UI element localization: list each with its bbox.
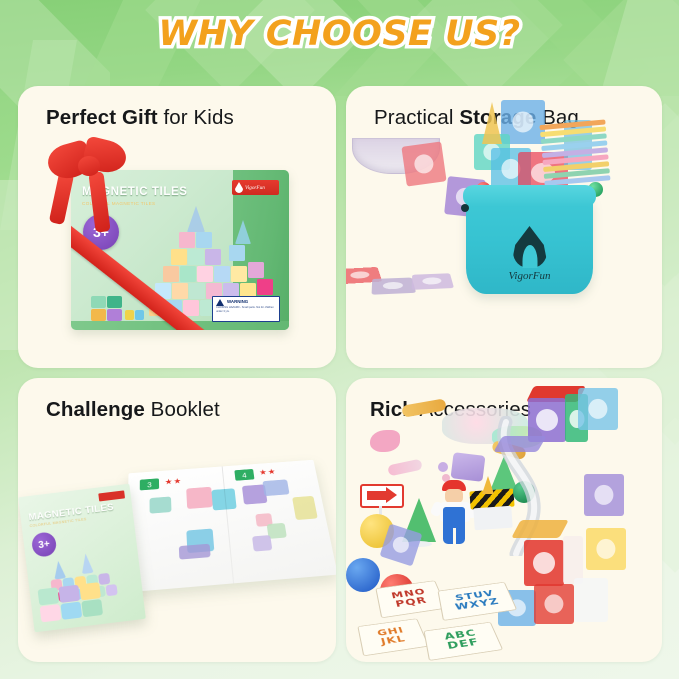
magnetic-square-tile: [372, 277, 417, 294]
magnetic-square-tile: [412, 273, 454, 290]
booklet-brand-logo: [98, 490, 125, 501]
bread-sticker: [401, 398, 446, 417]
feature-card-storage-bag: Practical Storage Bag: [346, 86, 662, 368]
tile-hole: [391, 535, 412, 556]
bag-rim: [463, 185, 596, 207]
alphabet-card: MNO PQR: [375, 580, 447, 618]
cover-tile: [40, 604, 62, 622]
feature-card-grid: Perfect Gift for Kids: [18, 86, 662, 662]
bow-knot: [78, 156, 100, 176]
magnetic-flat-tile: [493, 436, 546, 452]
alphabet-line: JKL: [380, 634, 407, 646]
magnetic-square-tile: [586, 528, 626, 570]
tile-hole: [544, 594, 563, 613]
page-title: WHY CHOOSE US?: [158, 14, 520, 54]
booklet-model-tile: [252, 535, 272, 552]
tile-hole: [512, 111, 533, 132]
tile-hole: [594, 485, 613, 505]
cube-front-face: [524, 540, 564, 586]
magnetic-square-tile: [574, 578, 608, 622]
booklet-model-tile: [150, 496, 172, 513]
tile-hole: [422, 277, 442, 285]
cover-tile: [58, 585, 80, 603]
booklet-cover: MAGNETIC TILES COLORFUL MAGNETIC TILES 3…: [18, 484, 146, 633]
tile-stack: [539, 119, 614, 187]
warning-title: WARNING: [227, 299, 248, 304]
booklet-difficulty-stars: ★★: [259, 467, 277, 477]
warning-text: CHOKING HAZARD - Small parts. Not for ch…: [216, 306, 276, 314]
feature-card-challenge-booklet: Challenge Booklet 3 ★★ 4 ★★: [18, 378, 336, 662]
bag-sticker: [451, 452, 486, 482]
bag-clip-icon: [461, 204, 469, 212]
magnetic-square-tile: [578, 388, 618, 430]
cover-tile: [81, 599, 103, 617]
cube-side-face: [563, 536, 583, 584]
loose-tiles: [91, 296, 143, 322]
booklet-page-number: 3: [140, 478, 159, 490]
figure-leg-gap: [453, 528, 456, 544]
tile-hole: [596, 539, 615, 559]
bag-brand-name: VigorFun: [466, 270, 593, 282]
alphabet-line: PQR: [395, 596, 429, 609]
storage-bag: VigorFun: [466, 194, 593, 294]
cover-tile: [38, 587, 60, 605]
magnetic-square-tile: [534, 584, 574, 624]
cover-tile: [80, 553, 94, 574]
cover-tile: [52, 560, 66, 579]
gift-box-scene: MAGNETIC TILES COLORFUL MAGNETIC TILES 3…: [18, 86, 336, 368]
booklet-age-badge: 3+: [31, 531, 58, 558]
booklet-model-tile: [186, 487, 213, 509]
booklet-model-tile: [211, 488, 236, 510]
booklet-model-tile: [179, 544, 211, 560]
flame-icon: [235, 182, 243, 193]
triangle-tile: [482, 102, 502, 144]
headline-container: WHY CHOOSE US?: [0, 14, 679, 54]
tile-hole: [413, 153, 435, 175]
warning-label: WARNING CHOKING HAZARD - Small parts. No…: [212, 296, 280, 322]
booklet-model-tile: [262, 479, 289, 496]
brand-logo-badge: VigorFun: [232, 180, 279, 195]
magnetic-square-tile: [401, 141, 446, 186]
marble-ball: [346, 558, 380, 592]
brand-name: VigorFun: [245, 185, 265, 191]
cover-tile: [79, 582, 101, 600]
feature-card-rich-accessories: Rich Accessories: [346, 378, 662, 662]
storage-bag-scene: VigorFun: [346, 86, 662, 368]
pill-sticker: [387, 459, 423, 477]
magnetic-flat-tile: [511, 520, 569, 538]
booklet-difficulty-stars: ★★: [165, 477, 183, 487]
booklet-model-tile: [292, 496, 318, 520]
feature-card-perfect-gift: Perfect Gift for Kids: [18, 86, 336, 368]
alphabet-card: ABC DEF: [424, 622, 504, 661]
alphabet-card: GHI JKL: [357, 618, 429, 656]
accessories-scene: MNO PQR GHI JKL STUV WXYZ ABC DEF: [346, 378, 662, 662]
promo-graphic: WHY CHOOSE US? Perfect Gift for Kids: [0, 0, 679, 679]
dot-sticker: [438, 462, 448, 472]
tile-hole: [350, 271, 370, 279]
arrow-road-sign: [360, 484, 404, 508]
tile-hole: [588, 399, 607, 419]
alphabet-line: DEF: [446, 638, 480, 652]
vigorfun-logo-icon: [513, 226, 547, 268]
figure-head: [445, 489, 463, 503]
gift-bow: [48, 138, 132, 204]
bird-sticker: [370, 430, 400, 452]
booklet-scene: 3 ★★ 4 ★★: [18, 378, 336, 662]
cone-marker: [482, 476, 494, 494]
cover-tile: [60, 602, 82, 620]
tile-hole: [383, 282, 404, 290]
magnetic-square-tile: [584, 474, 624, 516]
booklet-open-pages: 3 ★★ 4 ★★: [126, 460, 336, 593]
construction-worker-figure: [434, 480, 476, 544]
warning-triangle-icon: [216, 299, 224, 306]
booklet-page-number: 4: [234, 469, 254, 481]
